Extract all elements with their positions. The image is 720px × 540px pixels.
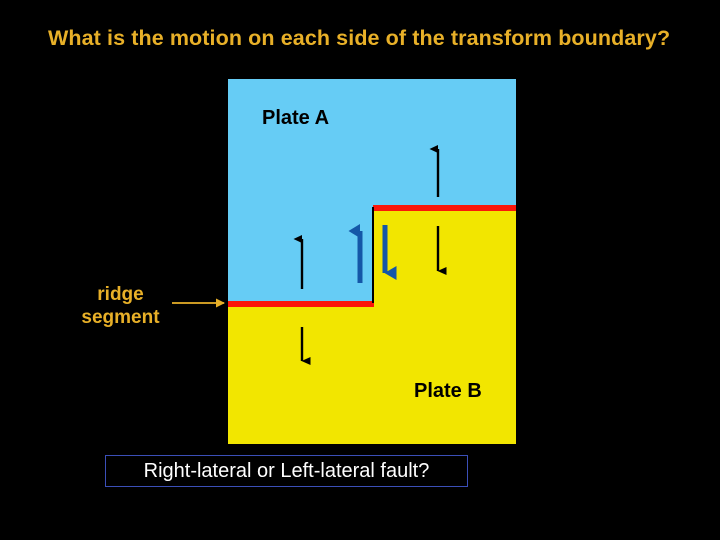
ridge-segment-annotation: ridge segment — [58, 283, 183, 329]
ridge-segment-upper — [373, 205, 516, 211]
ridge-annotation-line1: ridge — [58, 283, 183, 306]
tectonic-plate-diagram: Plate A Plate B — [228, 79, 516, 444]
plate-b-upper-block — [373, 207, 516, 444]
ridge-segment-lower — [228, 301, 374, 307]
plate-a-label: Plate A — [262, 107, 329, 130]
plate-b-lower-block — [228, 303, 373, 444]
page-title: What is the motion on each side of the t… — [48, 26, 720, 51]
slide-canvas: What is the motion on each side of the t… — [0, 0, 720, 540]
ridge-pointer-arrow-icon — [170, 294, 232, 312]
question-text: Right-lateral or Left-lateral fault? — [144, 460, 430, 483]
transform-fault-line — [372, 207, 374, 303]
question-box[interactable]: Right-lateral or Left-lateral fault? — [105, 455, 468, 487]
plate-b-label: Plate B — [414, 380, 482, 403]
ridge-annotation-line2: segment — [58, 306, 183, 329]
